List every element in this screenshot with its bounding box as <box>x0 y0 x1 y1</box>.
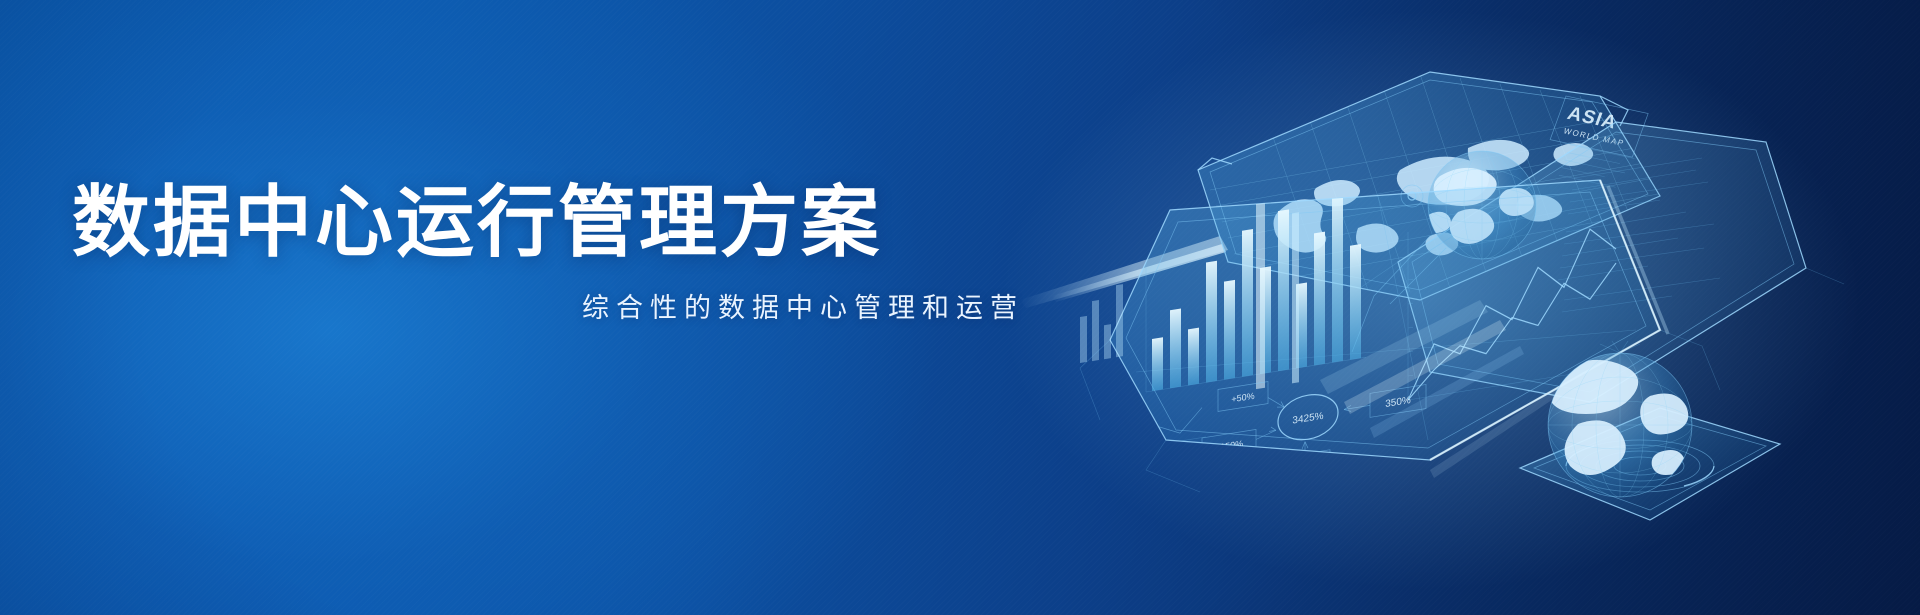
banner-text-block: 数据中心运行管理方案 综合性的数据中心管理和运营 <box>72 180 1032 325</box>
hero-banner: ASIA WORLD MAP <box>0 0 1920 615</box>
hologram-graphic: ASIA WORLD MAP <box>960 0 1920 615</box>
page-title: 数据中心运行管理方案 <box>72 180 1032 264</box>
page-subtitle: 综合性的数据中心管理和运营 <box>72 286 1032 325</box>
